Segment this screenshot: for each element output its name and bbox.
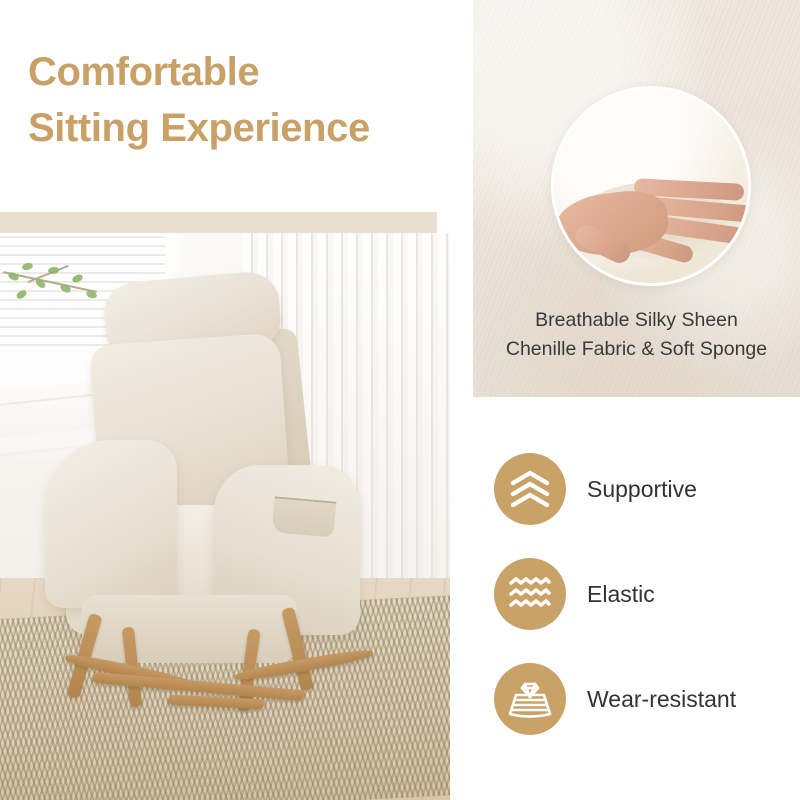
feature-item-elastic: Elastic (494, 557, 800, 631)
diamond-on-fabric-icon (494, 663, 566, 735)
fabric-caption: Breathable Silky Sheen Chenille Fabric &… (473, 306, 800, 364)
chevrons-up-icon (494, 453, 566, 525)
accent-bar (0, 212, 437, 233)
feature-item-supportive: Supportive (494, 452, 800, 526)
chair-side-pocket (272, 496, 337, 537)
hand-illustration (556, 171, 751, 267)
headline-line-1: Comfortable (28, 44, 458, 100)
chair-left-armrest (45, 440, 177, 608)
wavy-lines-icon (494, 558, 566, 630)
feature-label: Supportive (587, 476, 697, 503)
feature-item-wear-resistant: Wear-resistant (494, 662, 800, 736)
feature-label: Wear-resistant (587, 686, 736, 713)
marketing-banner: Comfortable Sitting Experience (0, 0, 800, 800)
feature-list: Supportive Elastic Wear-r (494, 452, 800, 767)
caption-line-2: Chenille Fabric & Soft Sponge (473, 335, 800, 364)
page-title: Comfortable Sitting Experience (28, 44, 458, 156)
caption-line-1: Breathable Silky Sheen (473, 306, 800, 335)
chair-base-skirt (82, 595, 297, 663)
rocking-chair (48, 277, 393, 737)
product-photo (0, 233, 450, 800)
feature-label: Elastic (587, 581, 655, 608)
headline-line-2: Sitting Experience (28, 100, 458, 156)
hand-press-inset (551, 86, 751, 286)
